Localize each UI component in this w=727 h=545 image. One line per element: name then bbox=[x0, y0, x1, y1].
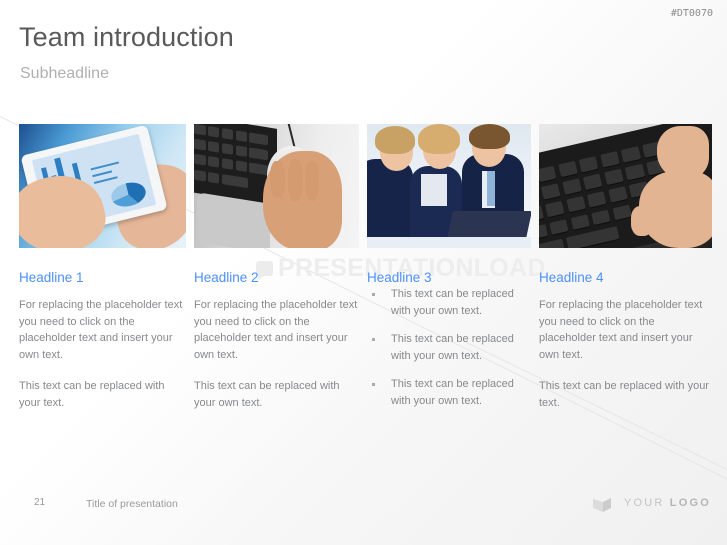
column-1-paragraph-1: For replacing the placeholder text you n… bbox=[19, 297, 186, 363]
column-3-bullet-list: This text can be replaced with your own … bbox=[367, 286, 531, 409]
logo-text-light: YOUR bbox=[624, 497, 670, 509]
column-2-paragraph-1: For replacing the placeholder text you n… bbox=[194, 297, 359, 363]
photo-mouse-hand bbox=[194, 124, 359, 248]
content-column-3: Headline 3 This text can be replaced wit… bbox=[367, 124, 531, 421]
page-subtitle: Subheadline bbox=[20, 65, 109, 83]
column-4-paragraph-1: For replacing the placeholder text you n… bbox=[539, 297, 712, 363]
column-4-paragraph-2: This text can be replaced with your text… bbox=[539, 378, 712, 411]
document-code: #DT0070 bbox=[671, 8, 713, 19]
slide: PRESENTATIONLOAD #DT0070 Team introducti… bbox=[0, 0, 727, 545]
column-2-body: For replacing the placeholder text you n… bbox=[194, 297, 359, 411]
photo-tablet-charts bbox=[19, 124, 186, 248]
footer-page-number: 21 bbox=[34, 497, 45, 508]
column-4-body: For replacing the placeholder text you n… bbox=[539, 297, 712, 411]
photo-team-laptop bbox=[367, 124, 531, 248]
cube-logo-icon bbox=[590, 491, 614, 515]
content-column-1: Headline 1 For replacing the placeholder… bbox=[19, 124, 186, 411]
column-4-headline: Headline 4 bbox=[539, 270, 712, 286]
logo: YOUR LOGO bbox=[590, 491, 711, 515]
page-title: Team introduction bbox=[19, 22, 234, 53]
column-1-headline: Headline 1 bbox=[19, 270, 186, 286]
list-item: This text can be replaced with your own … bbox=[367, 376, 531, 409]
list-item: This text can be replaced with your own … bbox=[367, 331, 531, 364]
column-1-body: For replacing the placeholder text you n… bbox=[19, 297, 186, 411]
column-3-headline: Headline 3 bbox=[367, 270, 531, 286]
photo-keyboard-typing bbox=[539, 124, 712, 248]
logo-text: YOUR LOGO bbox=[624, 497, 711, 509]
logo-text-bold: LOGO bbox=[670, 497, 711, 509]
column-2-paragraph-2: This text can be replaced with your own … bbox=[194, 378, 359, 411]
footer-presentation-title: Title of presentation bbox=[86, 498, 178, 510]
column-2-headline: Headline 2 bbox=[194, 270, 359, 286]
list-item: This text can be replaced with your own … bbox=[367, 286, 531, 319]
content-column-4: Headline 4 For replacing the placeholder… bbox=[539, 124, 712, 411]
content-column-2: Headline 2 For replacing the placeholder… bbox=[194, 124, 359, 411]
column-1-paragraph-2: This text can be replaced with your text… bbox=[19, 378, 186, 411]
